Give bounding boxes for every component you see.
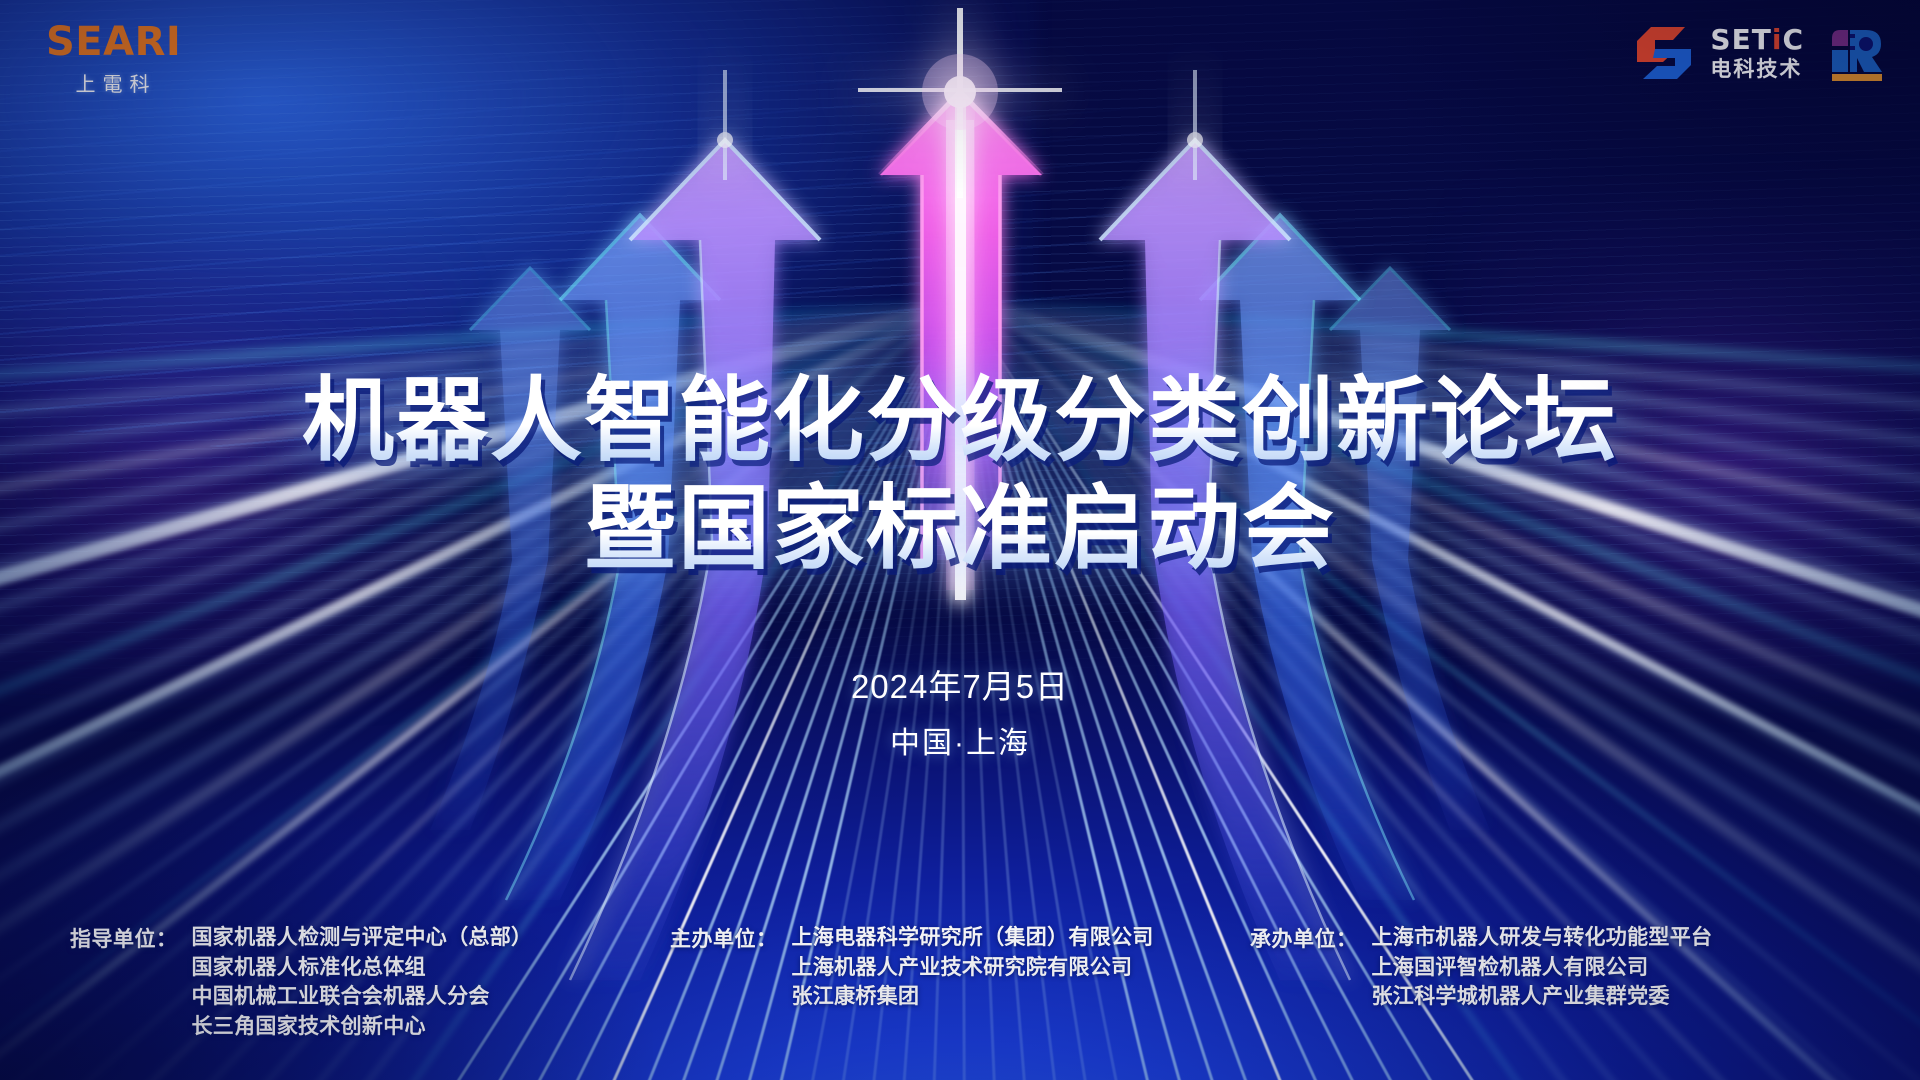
footer-organization-list: 国家机器人检测与评定中心（总部）国家机器人标准化总体组中国机械工业联合会机器人分… <box>192 923 533 1042</box>
footer-organization-list: 上海市机器人研发与转化功能型平台上海国评智检机器人有限公司张江科学城机器人产业集… <box>1372 923 1713 1012</box>
seari-logo[interactable]: SEARI 上電科 <box>46 22 186 97</box>
footer-column-label: 主办单位： <box>670 923 778 953</box>
setic-chinese-name: 电科技术 <box>1710 59 1804 80</box>
footer-organization-item: 上海国评智检机器人有限公司 <box>1372 953 1713 983</box>
event-title: 机器人智能化分级分类创新论坛 暨国家标准启动会 <box>0 372 1920 577</box>
footer-organization-item: 国家机器人检测与评定中心（总部） <box>192 923 533 953</box>
seari-wordmark: SEARI <box>46 22 186 62</box>
footer-organization-list: 上海电器科学研究所（集团）有限公司上海机器人产业技术研究院有限公司张江康桥集团 <box>792 923 1154 1012</box>
footer-organization-item: 上海市机器人研发与转化功能型平台 <box>1372 923 1713 953</box>
footer-column-3: 承办单位：上海市机器人研发与转化功能型平台上海国评智检机器人有限公司张江科学城机… <box>1250 923 1850 1042</box>
conference-banner: SEARI 上電科 SETiC 电科技术 机器人智能化分级分类创新论坛 <box>0 0 1920 1080</box>
footer-column-label: 承办单位： <box>1250 923 1358 953</box>
footer-organization-item: 上海机器人产业技术研究院有限公司 <box>792 953 1154 983</box>
title-line-1: 机器人智能化分级分类创新论坛 <box>0 372 1920 470</box>
footer-column-2: 主办单位：上海电器科学研究所（集团）有限公司上海机器人产业技术研究院有限公司张江… <box>670 923 1250 1042</box>
footer-organization-item: 上海电器科学研究所（集团）有限公司 <box>792 923 1154 953</box>
ir-logo[interactable] <box>1826 24 1886 82</box>
setic-mark-icon <box>1633 25 1699 81</box>
partner-logo-group: SETiC 电科技术 <box>1633 24 1886 82</box>
event-location: 中国·上海 <box>0 718 1920 762</box>
setic-wordmark: SETiC <box>1710 26 1804 54</box>
title-line-2: 暨国家标准启动会 <box>0 480 1920 578</box>
footer-column-label: 指导单位： <box>70 923 178 953</box>
footer-organization-item: 中国机械工业联合会机器人分会 <box>192 982 533 1012</box>
event-date: 2024年7月5日 <box>0 660 1920 708</box>
event-meta: 2024年7月5日 中国·上海 <box>0 660 1920 762</box>
footer-organization-item: 长三角国家技术创新中心 <box>192 1012 533 1042</box>
seari-chinese-name: 上電科 <box>46 68 186 97</box>
organization-footer: 指导单位：国家机器人检测与评定中心（总部）国家机器人标准化总体组中国机械工业联合… <box>0 923 1920 1042</box>
footer-column-1: 指导单位：国家机器人检测与评定中心（总部）国家机器人标准化总体组中国机械工业联合… <box>70 923 670 1042</box>
footer-organization-item: 张江康桥集团 <box>792 982 1154 1012</box>
footer-organization-item: 张江科学城机器人产业集群党委 <box>1372 982 1713 1012</box>
footer-organization-item: 国家机器人标准化总体组 <box>192 953 533 983</box>
setic-logo[interactable]: SETiC 电科技术 <box>1633 25 1804 81</box>
setic-accent-i: i <box>1772 23 1783 56</box>
